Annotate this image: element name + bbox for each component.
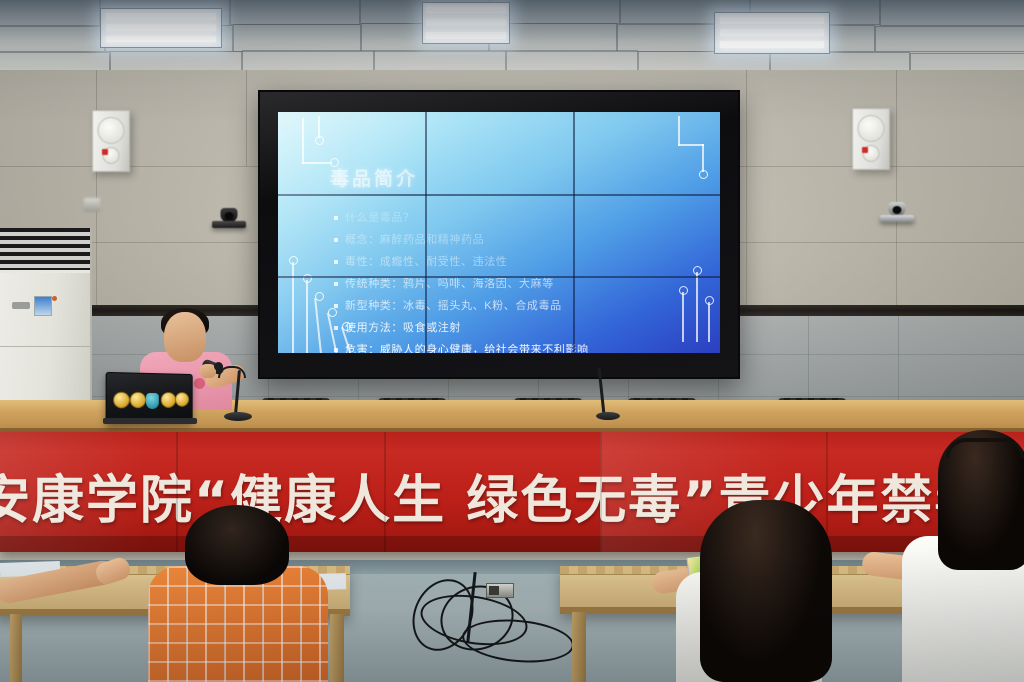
student-girl-1-hair [700,500,832,682]
lecture-room-photo: 毒品简介 什么是毒品？ 概念：麻醉药品和精神药品 毒性：成瘾性、耐受性、违法性 … [0,0,1024,682]
student-boy-head [185,505,289,585]
desk-leg [572,612,586,682]
gooseneck-microphone-base [596,412,620,420]
outlet-lid-icon [489,586,499,595]
event-banner: 安康学院“健康人生 绿色无毒”青少年禁毒防艾暑期社会实践活动 [0,432,1024,552]
floor-outlet-box[interactable] [486,583,514,598]
speaker-led-icon [862,147,868,153]
laptop[interactable] [106,372,193,424]
lcd-video-wall[interactable]: 毒品简介 什么是毒品？ 概念：麻醉药品和精神药品 毒性：成瘾性、耐受性、违法性 … [258,90,740,379]
laptop-sticker-icon [113,392,130,409]
laptop-sticker-icon [161,392,176,408]
air-conditioner-indicator-icon [52,296,57,301]
desk-leg [10,614,22,682]
ceiling [0,0,1024,72]
camera-lens-icon [225,212,234,220]
presentation-slide: 毒品简介 什么是毒品？ 概念：麻醉药品和精神药品 毒性：成瘾性、耐受性、违法性 … [278,112,720,353]
gooseneck-microphone-base [224,412,252,421]
camera-lens-icon [893,206,902,214]
laptop-sticker-icon [130,392,146,408]
air-conditioner-logo [12,302,30,309]
wall-speaker-left [92,110,130,172]
wall-bracket-left [84,198,100,212]
laptop-emblem-icon [146,393,159,409]
laptop-sticker-icon [175,392,189,407]
hair-band [946,438,1024,458]
camera-mount [880,215,914,222]
air-conditioner [0,228,92,408]
speaker-led-icon [102,149,108,155]
microphone-head-icon [214,362,223,371]
wall-camera-right [880,198,914,222]
wall-speaker-right [852,108,890,170]
laptop-base [103,418,197,424]
event-banner-text: 安康学院“健康人生 绿色无毒”青少年禁毒防艾暑期社会实践活动 [0,458,1024,533]
speaker-badge [194,378,205,389]
air-conditioner-grille [0,228,90,273]
wall-camera-left [212,206,246,228]
desk-leg [330,614,344,682]
camera-mount [212,221,246,228]
air-conditioner-display [34,296,52,316]
speaker-head [164,312,206,362]
